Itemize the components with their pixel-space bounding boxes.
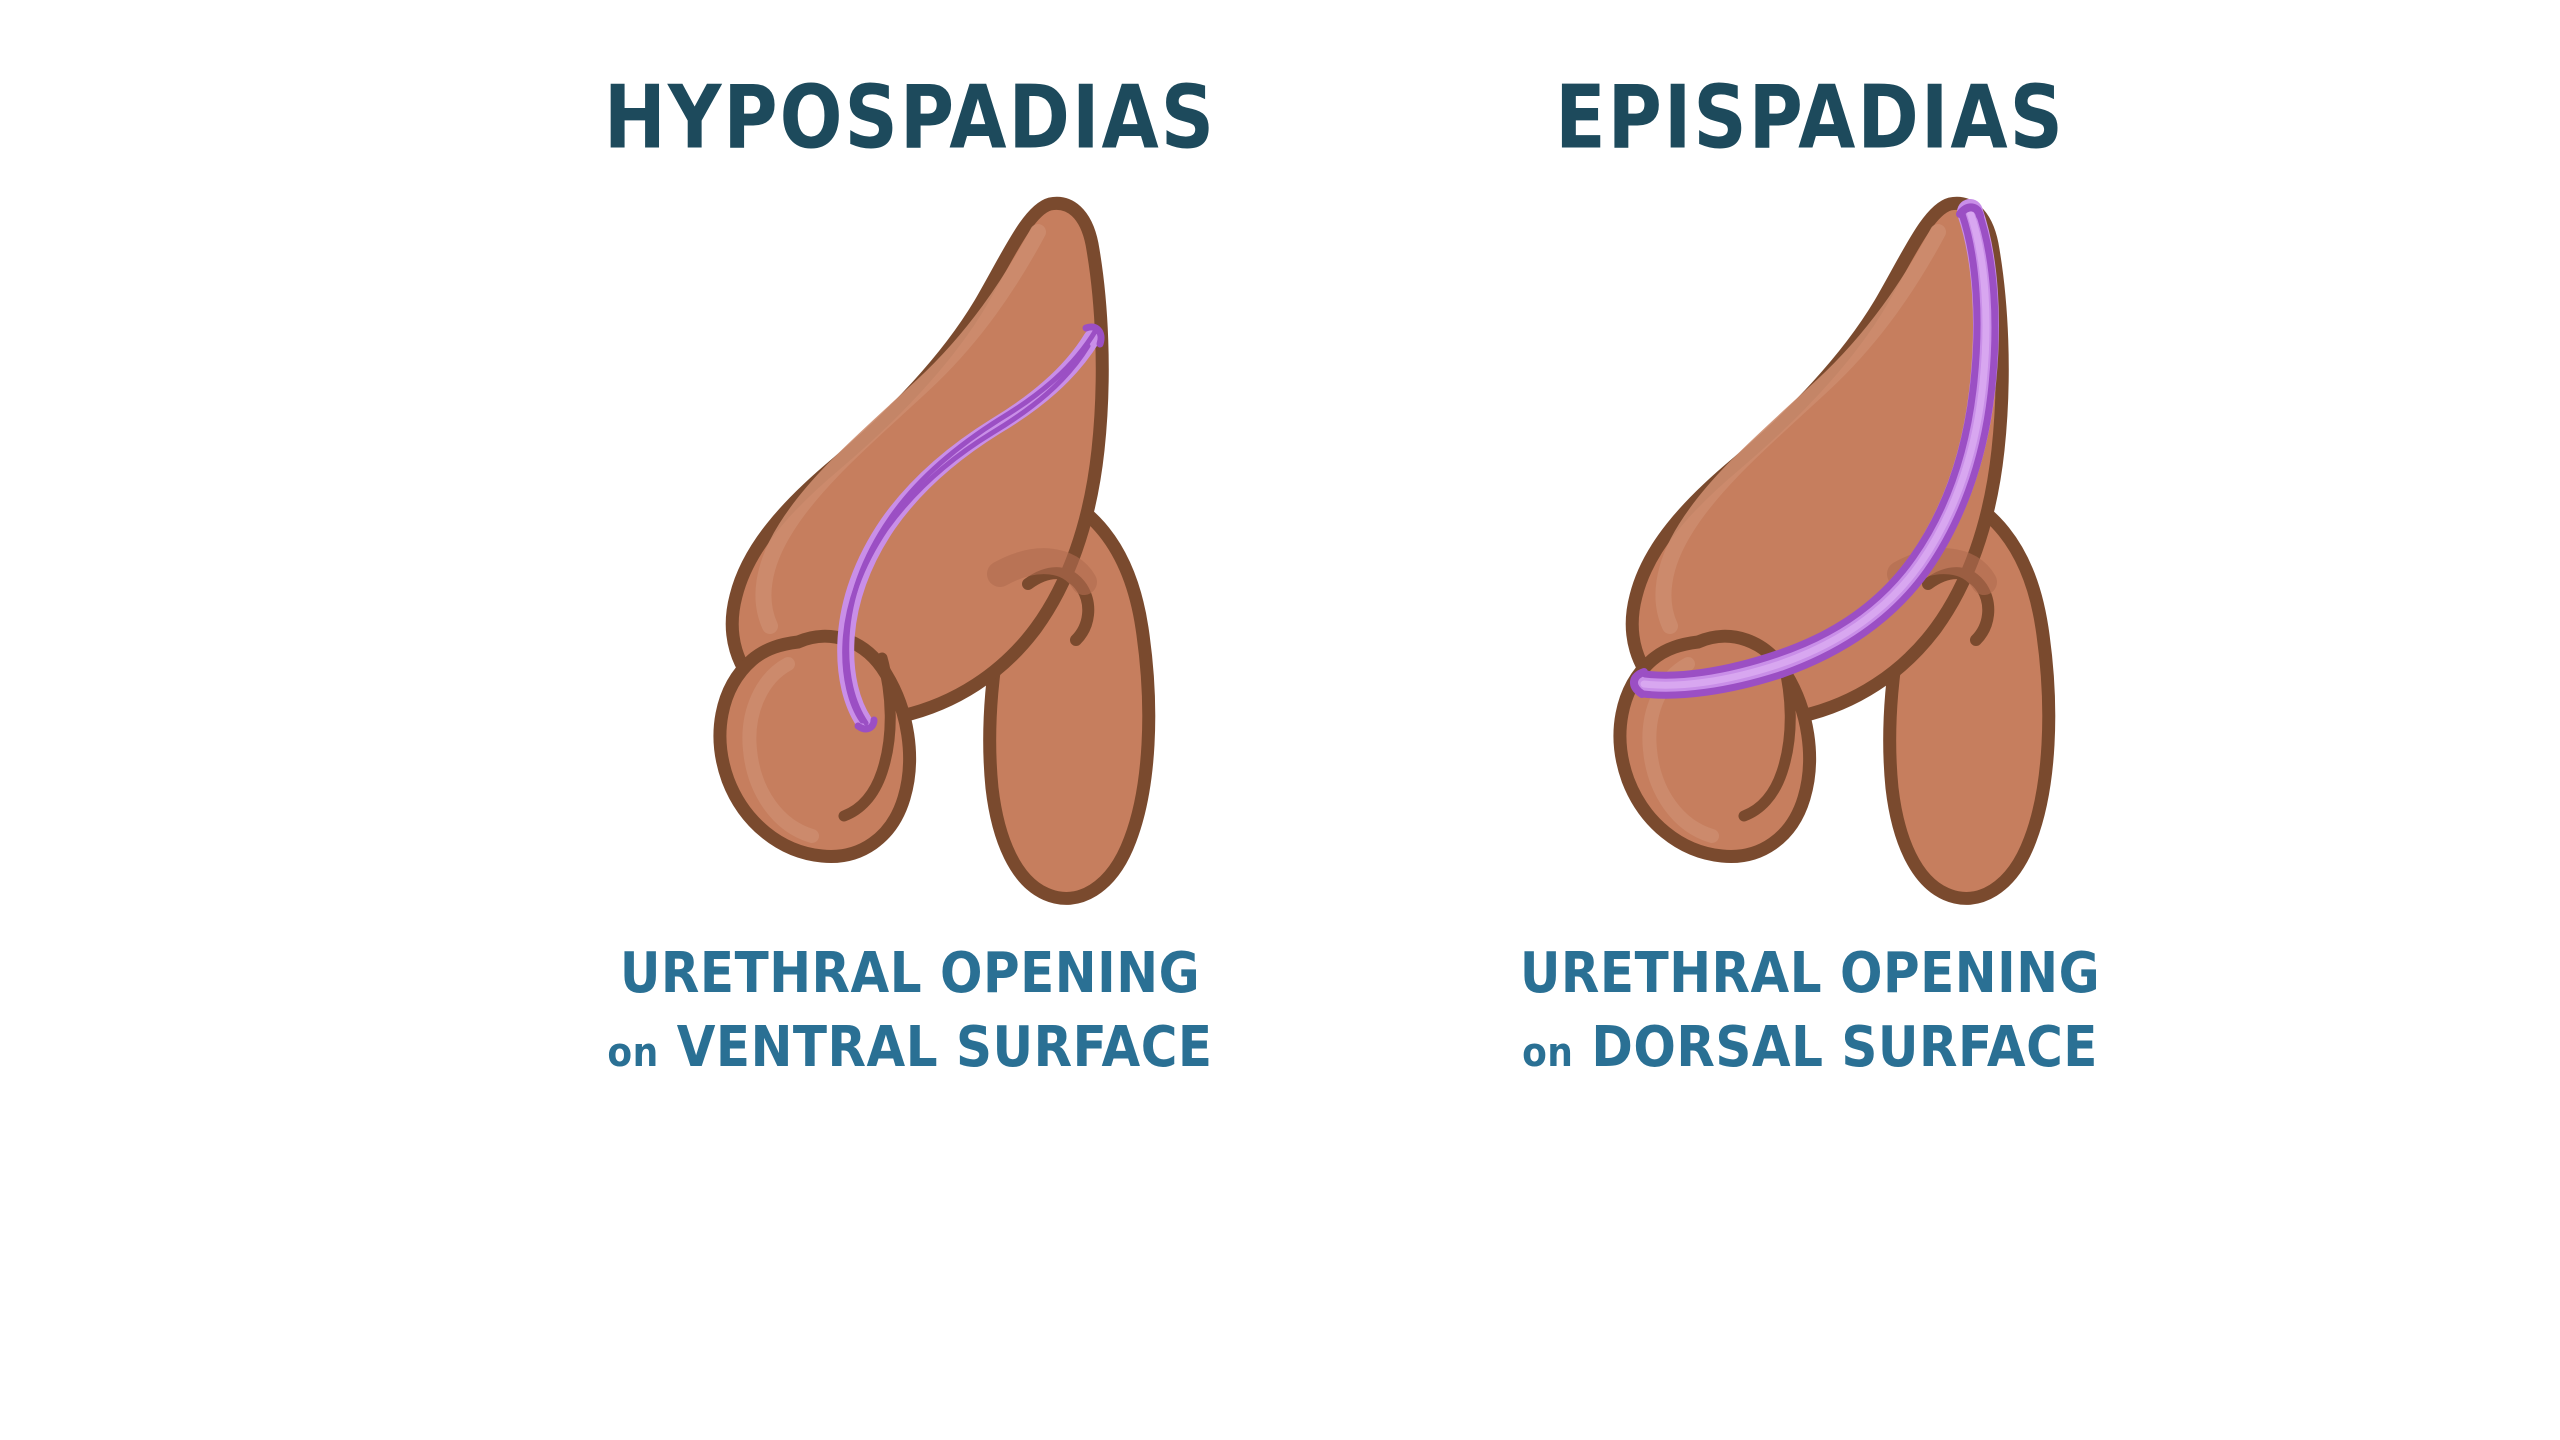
caption-line2-hypospadias: on VENTRAL SURFACE (450, 1015, 1370, 1080)
panel-hypospadias: HYPOSPADIAS (430, 0, 1390, 1200)
caption-prefix-epispadias: on (1522, 1030, 1573, 1076)
panel-epispadias: EPISPADIAS (1330, 0, 2290, 1200)
caption-line1-hypospadias: URETHRAL OPENING (450, 941, 1370, 1006)
caption-hypospadias: URETHRAL OPENING on VENTRAL SURFACE (450, 944, 1370, 1076)
caption-epispadias: URETHRAL OPENING on DORSAL SURFACE (1350, 944, 2270, 1076)
diagram-canvas: HYPOSPADIAS (0, 0, 2560, 1440)
caption-line1-epispadias: URETHRAL OPENING (1350, 941, 2270, 1006)
epispadias-illustration (1370, 178, 2250, 938)
hypospadias-figure-svg (530, 188, 1290, 928)
epispadias-figure-svg (1430, 188, 2190, 928)
caption-prefix-hypospadias: on (607, 1030, 658, 1076)
panel-title-epispadias: EPISPADIAS (1555, 47, 2065, 189)
caption-surface-epispadias: DORSAL SURFACE (1591, 1015, 2098, 1080)
panel-title-hypospadias: HYPOSPADIAS (604, 47, 1216, 189)
caption-surface-hypospadias: VENTRAL SURFACE (677, 1015, 1213, 1080)
hypospadias-illustration (470, 178, 1350, 938)
caption-line2-epispadias: on DORSAL SURFACE (1350, 1015, 2270, 1080)
